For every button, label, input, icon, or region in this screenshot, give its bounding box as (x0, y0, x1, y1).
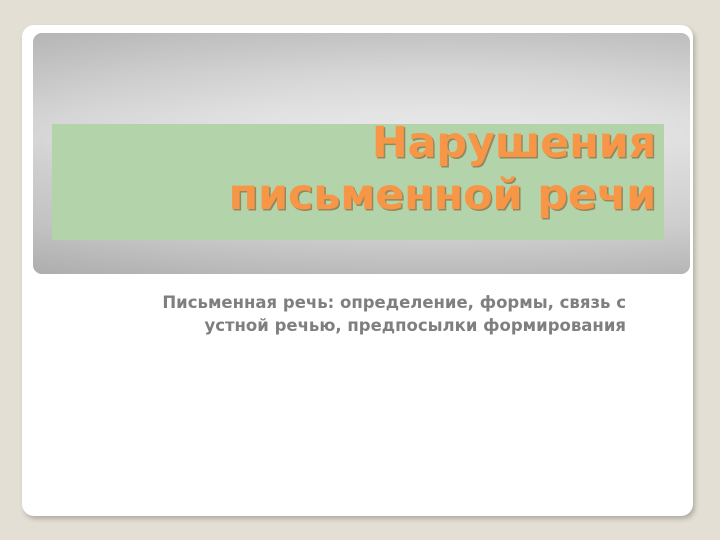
slide-card: Нарушения письменной речи Письменная реч… (22, 25, 693, 516)
title-plate: Нарушения письменной речи (33, 33, 690, 274)
slide-subtitle: Письменная речь: определение, формы, свя… (122, 291, 626, 337)
page-title: Нарушения письменной речи (52, 117, 656, 221)
slide-root: Нарушения письменной речи Письменная реч… (0, 0, 720, 540)
